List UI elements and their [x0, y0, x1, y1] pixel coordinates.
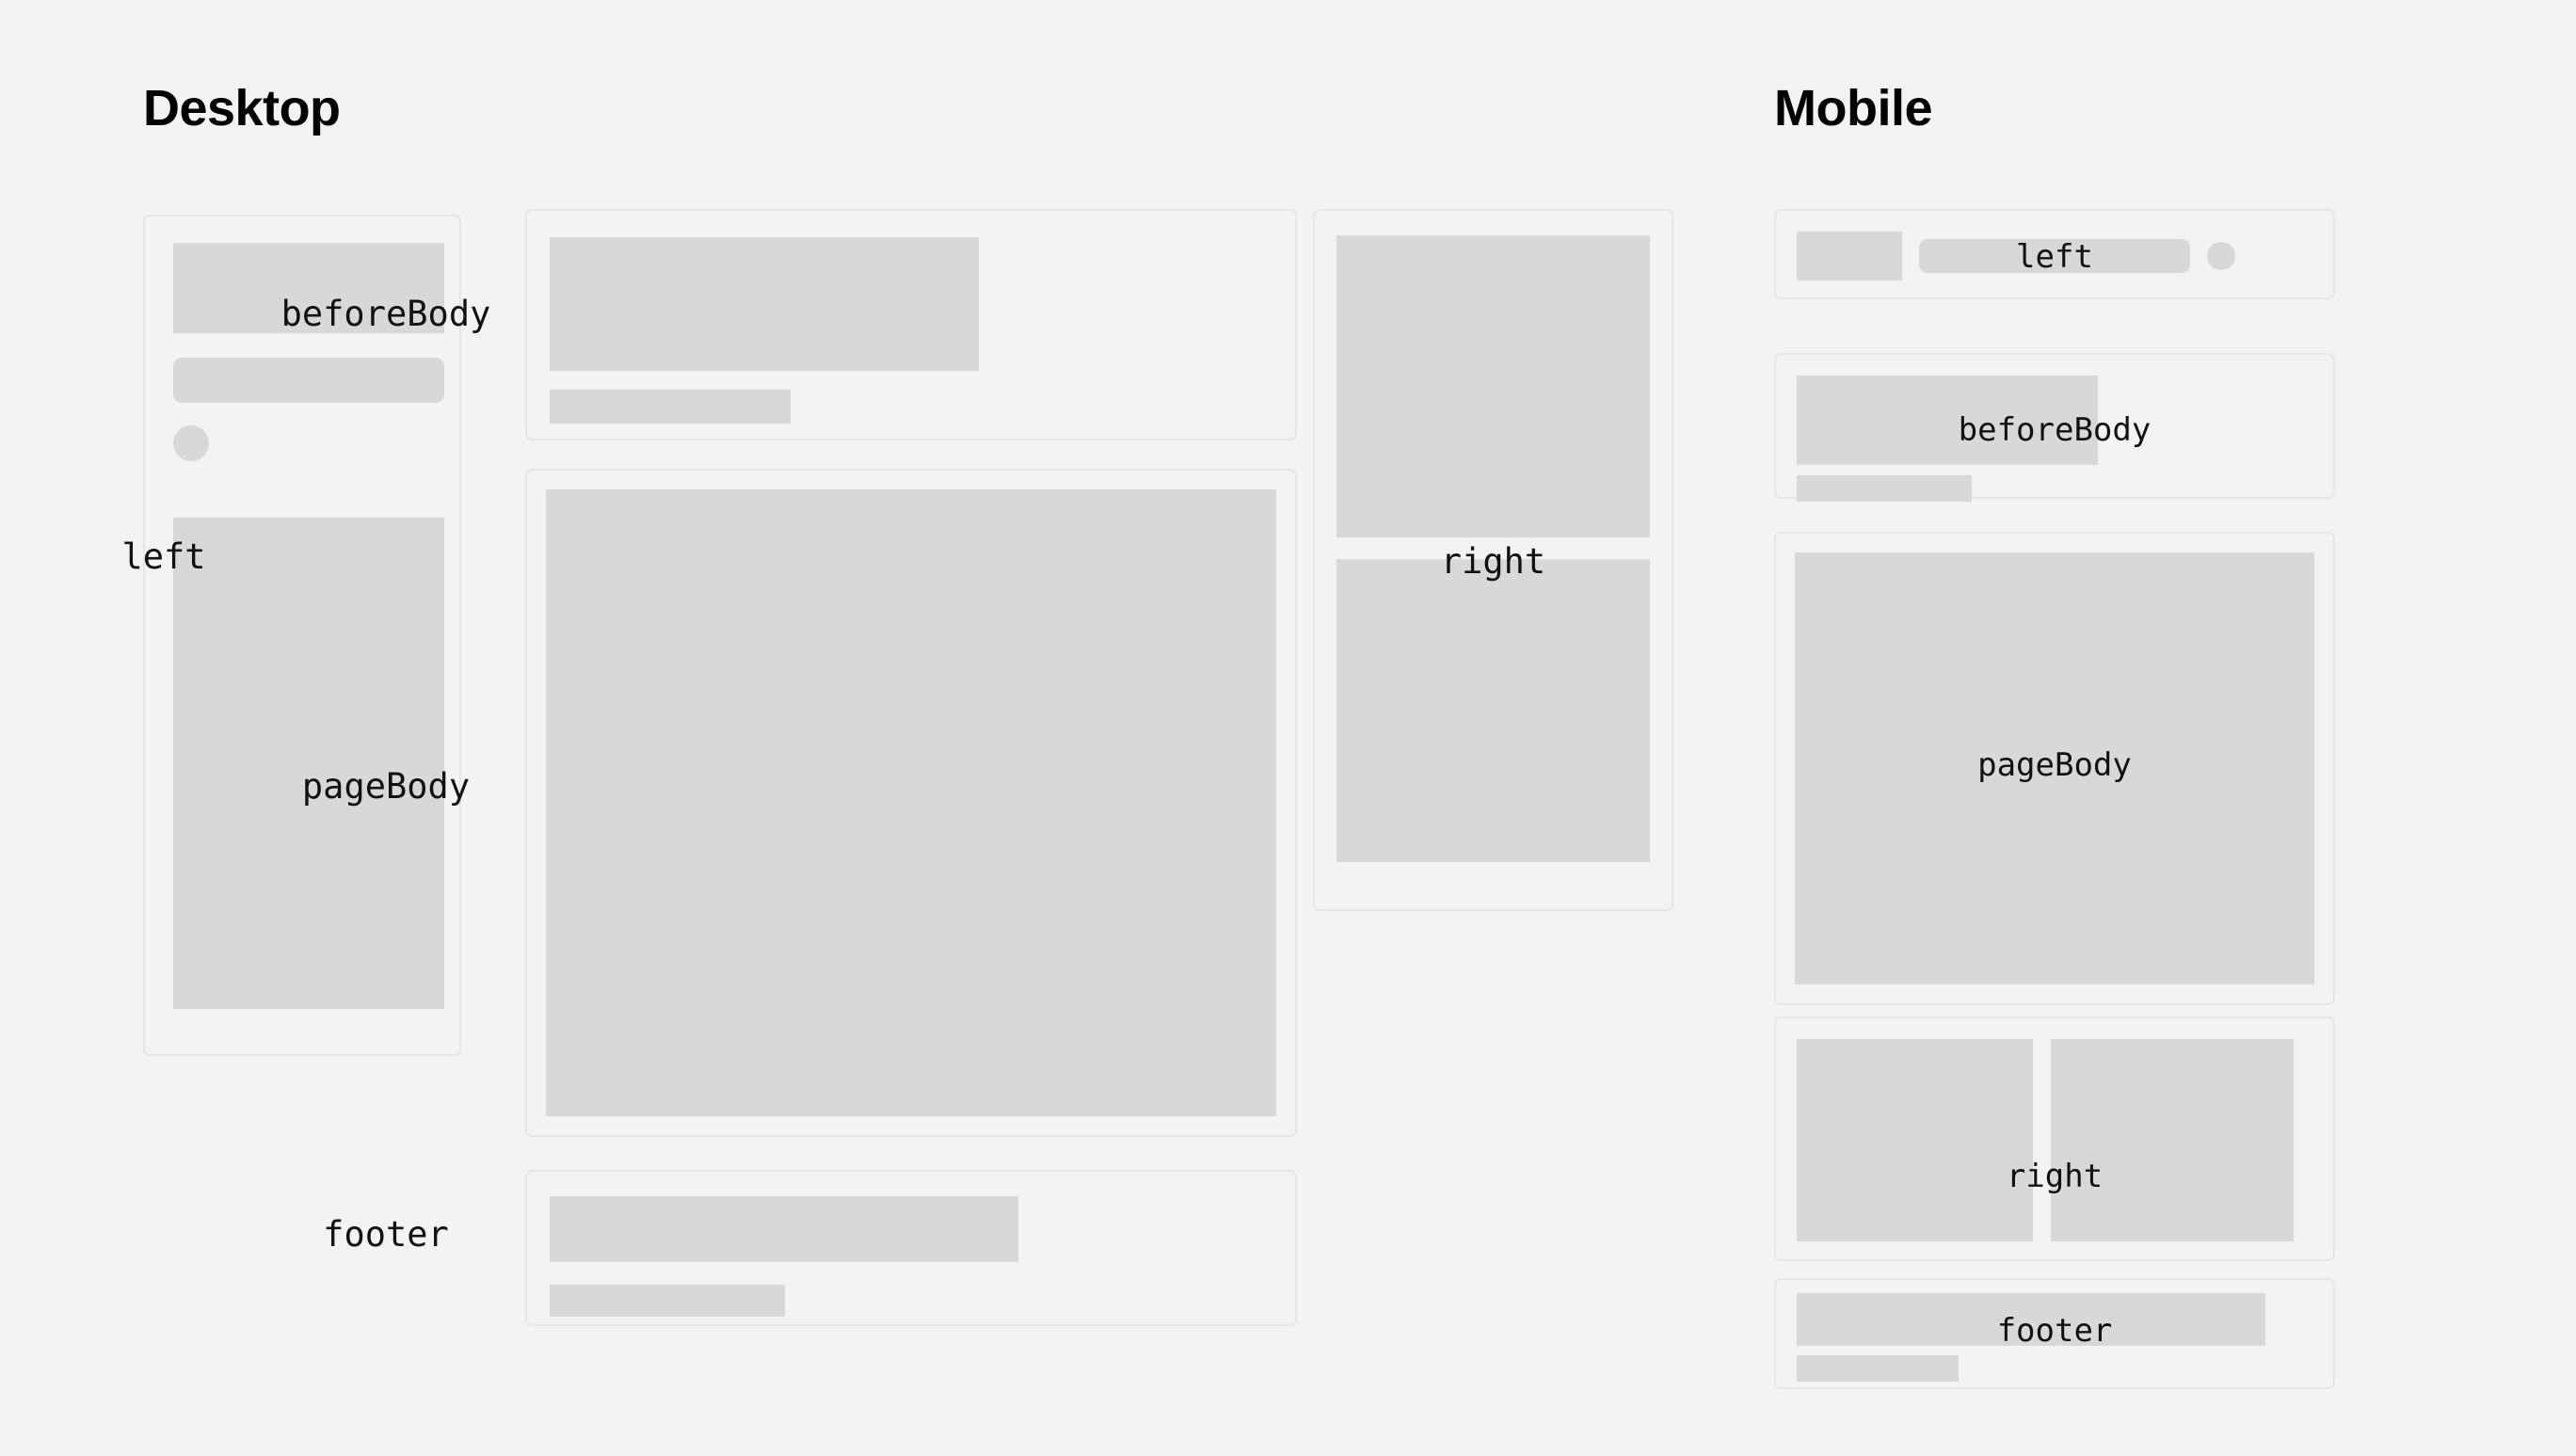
desktop-pagebody-region-panel[interactable]	[525, 469, 1297, 1137]
skeleton-circle-icon	[2207, 242, 2235, 270]
skeleton-block	[550, 1196, 1018, 1262]
desktop-right-region-panel[interactable]	[1313, 209, 1673, 911]
skeleton-block	[1336, 559, 1650, 862]
desktop-left-region-panel[interactable]	[143, 215, 461, 1056]
mobile-footer-region-panel[interactable]	[1774, 1278, 2335, 1389]
mobile-pagebody-region-panel[interactable]	[1774, 532, 2335, 1005]
skeleton-block	[1797, 232, 1902, 280]
skeleton-block	[1797, 376, 2098, 465]
skeleton-block-small	[1797, 475, 1972, 502]
mobile-left-region-panel[interactable]	[1774, 209, 2335, 299]
skeleton-block-small	[1797, 1355, 1959, 1382]
skeleton-block	[550, 237, 979, 371]
skeleton-circle-icon	[173, 425, 209, 461]
skeleton-pill	[1919, 239, 2190, 273]
skeleton-block-large	[546, 489, 1276, 1116]
skeleton-block-small	[550, 1285, 785, 1317]
skeleton-block-small	[550, 390, 791, 424]
desktop-beforebody-region-panel[interactable]	[525, 209, 1297, 440]
skeleton-block-large	[1795, 552, 2314, 984]
skeleton-pill	[173, 358, 444, 403]
skeleton-block-tall	[173, 518, 444, 1009]
mobile-right-region-panel[interactable]	[1774, 1016, 2335, 1261]
skeleton-block	[1797, 1039, 2033, 1241]
skeleton-block	[2051, 1039, 2294, 1241]
skeleton-block	[1797, 1293, 2265, 1346]
skeleton-block	[173, 243, 444, 333]
wireframe-canvas: Desktop left beforeBody pageBody footer …	[0, 0, 2576, 1456]
desktop-section-title: Desktop	[143, 83, 341, 134]
mobile-section-title: Mobile	[1774, 83, 1932, 134]
mobile-beforebody-region-panel[interactable]	[1774, 353, 2335, 499]
skeleton-block	[1336, 235, 1650, 537]
desktop-footer-region-panel[interactable]	[525, 1170, 1297, 1326]
